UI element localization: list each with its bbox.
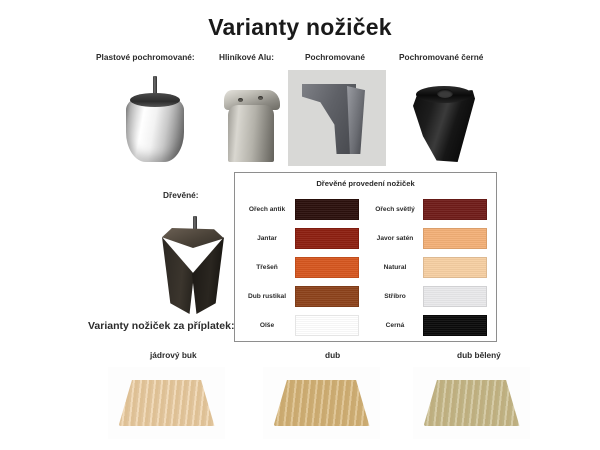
wood-swatch-color[interactable] xyxy=(423,257,487,278)
wood-swatch-label: Olše xyxy=(239,322,295,329)
bleached-oak-wood-leg-shape xyxy=(424,380,520,426)
oak-wood-leg-photo xyxy=(263,367,380,439)
wood-swatch-color[interactable] xyxy=(295,199,359,220)
wood-swatch-color[interactable] xyxy=(423,315,487,336)
aluminium-bracket-leg-shape xyxy=(224,90,280,162)
wood-swatch-color[interactable] xyxy=(295,286,359,307)
page-title: Varianty nožiček xyxy=(0,14,600,41)
label-varianty-za-priplatek: Varianty nožiček za příplatek: xyxy=(88,320,234,332)
wood-swatch-color[interactable] xyxy=(295,257,359,278)
label-hlinikove-alu: Hliníkové Alu: xyxy=(219,52,274,62)
black-gloss-leg-shape xyxy=(413,86,475,162)
bleached-oak-wood-leg-photo xyxy=(413,367,530,439)
wood-swatch-row[interactable]: Natural xyxy=(367,253,495,282)
wood-swatch-label: Natural xyxy=(367,264,423,271)
wood-swatch-color[interactable] xyxy=(295,315,359,336)
wood-swatch-color[interactable] xyxy=(423,228,487,249)
dark-wood-tapered-leg-shape xyxy=(160,228,226,314)
wood-swatch-label: Třešeň xyxy=(239,264,295,271)
aluminium-bracket-leg-photo xyxy=(202,70,302,166)
wood-swatch-row[interactable]: Černá xyxy=(367,311,495,340)
wood-swatch-row[interactable]: Stříbro xyxy=(367,282,495,311)
dark-wood-tapered-leg-photo xyxy=(145,212,241,322)
label-pochromovane-cerne: Pochromované černé xyxy=(399,52,483,62)
wood-swatch-color[interactable] xyxy=(423,286,487,307)
wood-swatch-label: Stříbro xyxy=(367,293,423,300)
wood-swatch-row[interactable]: Jantar xyxy=(239,224,367,253)
wood-swatch-label: Dub rustikal xyxy=(239,293,295,300)
chrome-curved-leg-shape xyxy=(302,84,374,156)
wood-swatch-label: Jantar xyxy=(239,235,295,242)
wood-swatch-label: Černá xyxy=(367,322,423,329)
wood-swatch-row[interactable]: Třešeň xyxy=(239,253,367,282)
chrome-curved-leg-photo xyxy=(288,70,386,166)
wood-swatch-label: Ořech světlý xyxy=(367,206,423,213)
wood-swatch-label: Ořech antik xyxy=(239,206,295,213)
wood-swatch-row[interactable]: Ořech antik xyxy=(239,195,367,224)
poster-root: Varianty nožiček Plastové pochromované: … xyxy=(0,0,600,450)
wood-swatch-row[interactable]: Javor satén xyxy=(367,224,495,253)
wood-swatch-color[interactable] xyxy=(295,228,359,249)
wood-panel-title: Dřevěné provedení nožiček xyxy=(235,179,496,188)
beech-wood-leg-shape xyxy=(119,380,215,426)
label-plastove-pochromovane: Plastové pochromované: xyxy=(96,52,195,62)
wood-swatch-row[interactable]: Olše xyxy=(239,311,367,340)
label-jadrovy-buk: jádrový buk xyxy=(150,350,197,360)
black-gloss-leg-photo xyxy=(392,70,496,166)
chrome-cone-leg-shape xyxy=(126,94,184,162)
label-drevene: Dřevěné: xyxy=(163,190,199,200)
wood-swatch-label: Javor satén xyxy=(367,235,423,242)
wood-column-left: Ořech antik Jantar Třešeň Dub rustikal O… xyxy=(239,195,367,340)
label-pochromovane: Pochromované xyxy=(305,52,365,62)
wood-finishes-panel: Dřevěné provedení nožiček Ořech antik Ja… xyxy=(234,172,497,342)
wood-swatch-row[interactable]: Ořech světlý xyxy=(367,195,495,224)
label-dub: dub xyxy=(325,350,340,360)
wood-swatch-row[interactable]: Dub rustikal xyxy=(239,282,367,311)
beech-wood-leg-photo xyxy=(108,367,225,439)
oak-wood-leg-shape xyxy=(274,380,370,426)
label-dub-beleny: dub bělený xyxy=(457,350,501,360)
chrome-cone-leg-photo xyxy=(98,70,212,166)
wood-swatch-color[interactable] xyxy=(423,199,487,220)
wood-column-right: Ořech světlý Javor satén Natural Stříbro… xyxy=(367,195,495,340)
aluminium-front-face xyxy=(228,105,274,162)
